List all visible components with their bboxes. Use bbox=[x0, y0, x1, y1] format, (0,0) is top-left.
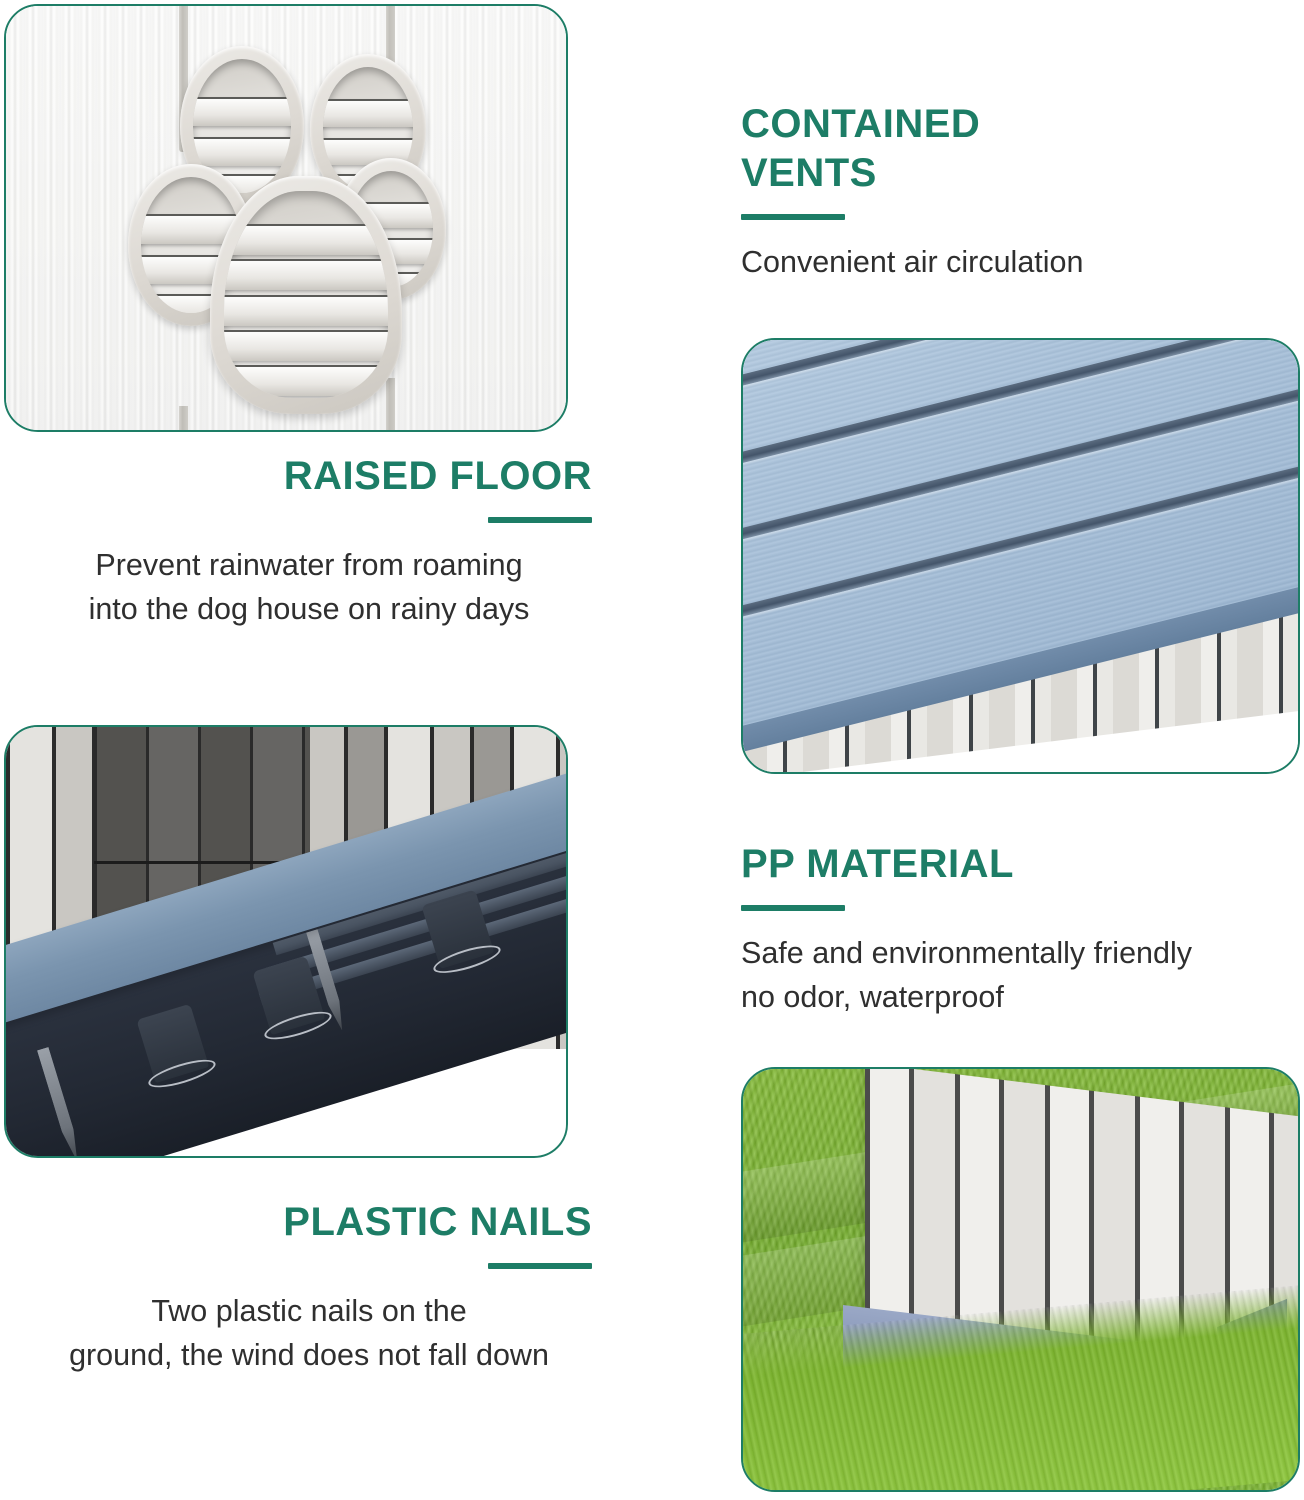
heading-underline bbox=[741, 905, 845, 911]
paw-print-vent-icon bbox=[124, 34, 454, 430]
feature-text-contained-vents: CONTAINED VENTS Convenient air circulati… bbox=[741, 100, 1289, 284]
feature-body: Two plastic nails on the ground, the win… bbox=[26, 1289, 592, 1378]
image-panel-pp-material bbox=[741, 1067, 1300, 1492]
infographic-sheet: CONTAINED VENTS Convenient air circulati… bbox=[0, 0, 1304, 1500]
feature-text-plastic-nails: PLASTIC NAILS Two plastic nails on the g… bbox=[26, 1198, 592, 1378]
paw-vent-illustration bbox=[6, 6, 566, 430]
feature-heading: PP MATERIAL bbox=[741, 840, 1289, 889]
plastic-nails-illustration bbox=[6, 727, 566, 1156]
image-panel-plastic-nails bbox=[4, 725, 568, 1158]
heading-underline bbox=[488, 517, 592, 523]
heading-underline bbox=[488, 1263, 592, 1269]
feature-heading: PLASTIC NAILS bbox=[26, 1198, 592, 1247]
image-panel-contained-vents bbox=[4, 4, 568, 432]
vent-paw-pad bbox=[210, 176, 402, 414]
feature-text-raised-floor: RAISED FLOOR Prevent rainwater from roam… bbox=[26, 452, 592, 632]
image-panel-raised-floor bbox=[741, 338, 1300, 774]
heading-underline bbox=[741, 214, 845, 220]
plastic-nail-spike bbox=[37, 1047, 83, 1156]
feature-body: Prevent rainwater from roaming into the … bbox=[26, 543, 592, 632]
roof-illustration bbox=[743, 340, 1298, 772]
feature-body: Convenient air circulation bbox=[741, 240, 1289, 285]
feature-body: Safe and environmentally friendly no odo… bbox=[741, 931, 1289, 1020]
grass-illustration bbox=[743, 1069, 1298, 1490]
feature-heading: CONTAINED VENTS bbox=[741, 100, 1289, 198]
feature-heading: RAISED FLOOR bbox=[26, 452, 592, 501]
feature-text-pp-material: PP MATERIAL Safe and environmentally fri… bbox=[741, 840, 1289, 1020]
